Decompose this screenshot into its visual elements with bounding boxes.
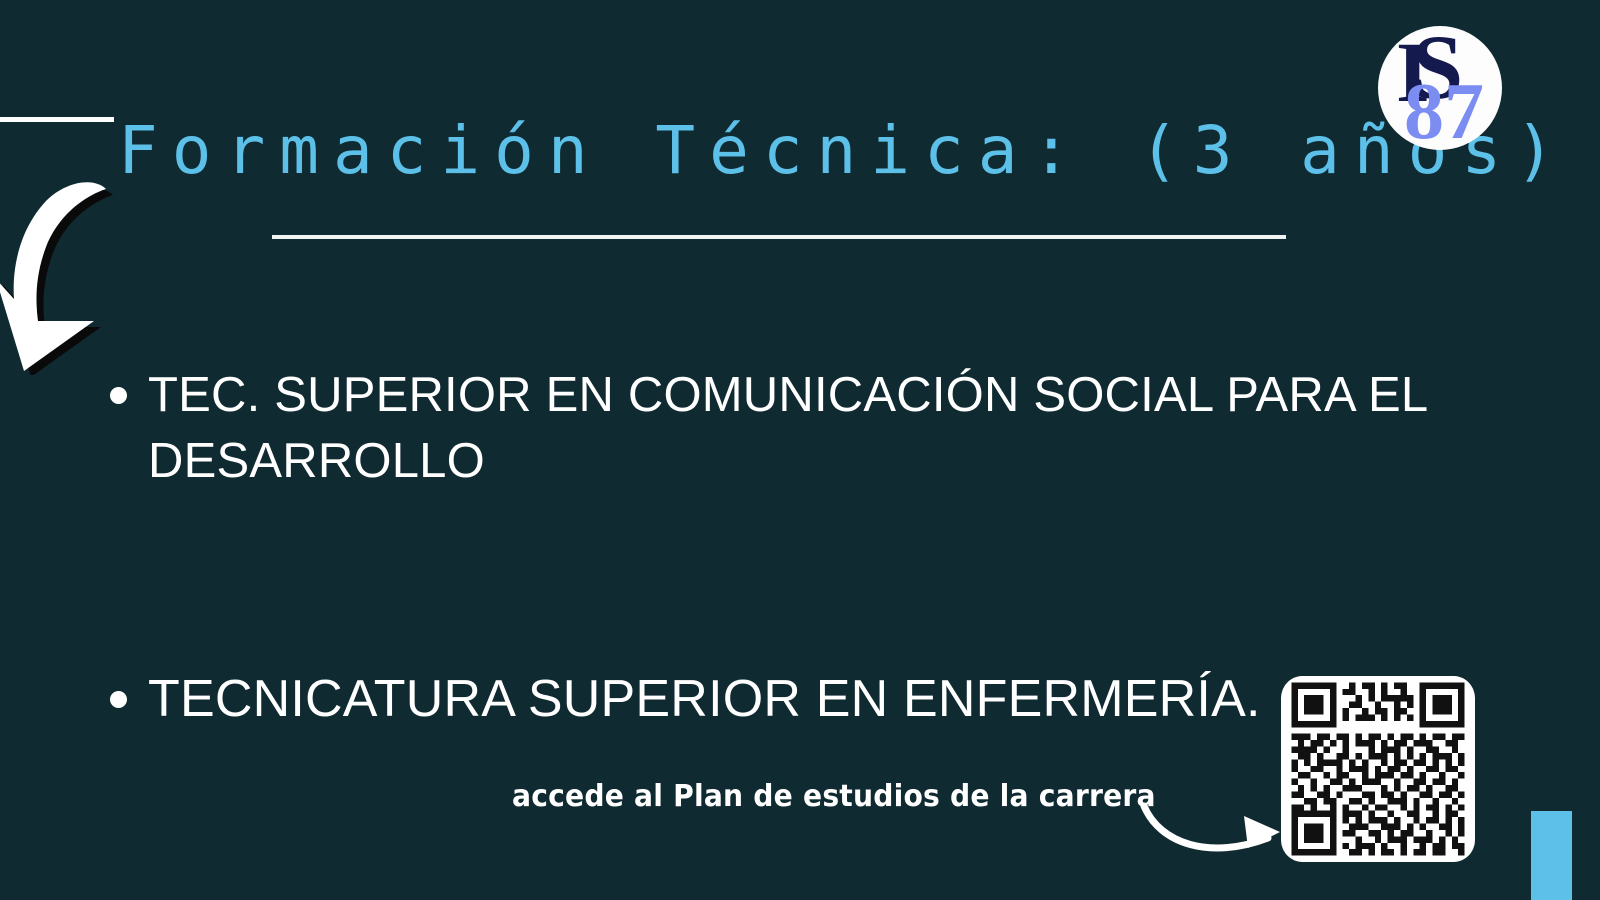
logo-icon: I S 87 bbox=[1378, 26, 1502, 150]
bullet-dot-icon bbox=[110, 387, 127, 404]
institution-logo: I S 87 bbox=[1378, 26, 1502, 150]
list-item-label: TEC. SUPERIOR EN COMUNICACIÓN SOCIAL PAR… bbox=[148, 362, 1530, 494]
top-rule-decoration bbox=[0, 117, 114, 122]
bullet-dot-icon bbox=[110, 691, 127, 708]
qr-code[interactable] bbox=[1281, 676, 1475, 862]
slide-canvas: Formación Técnica: (3 años) I S 87 TEC. … bbox=[0, 0, 1600, 900]
qr-pointer-arrow-icon bbox=[1140, 802, 1300, 864]
svg-text:87: 87 bbox=[1404, 68, 1484, 150]
page-title: Formación Técnica: (3 años) bbox=[118, 118, 1488, 184]
qr-caption-label: accede al Plan de estudios de la carrera bbox=[512, 779, 1156, 814]
blue-bar-decoration bbox=[1531, 811, 1572, 900]
big-curved-arrow-icon bbox=[0, 175, 124, 375]
list-item: TEC. SUPERIOR EN COMUNICACIÓN SOCIAL PAR… bbox=[110, 362, 1530, 494]
title-underline-decoration bbox=[272, 235, 1286, 239]
